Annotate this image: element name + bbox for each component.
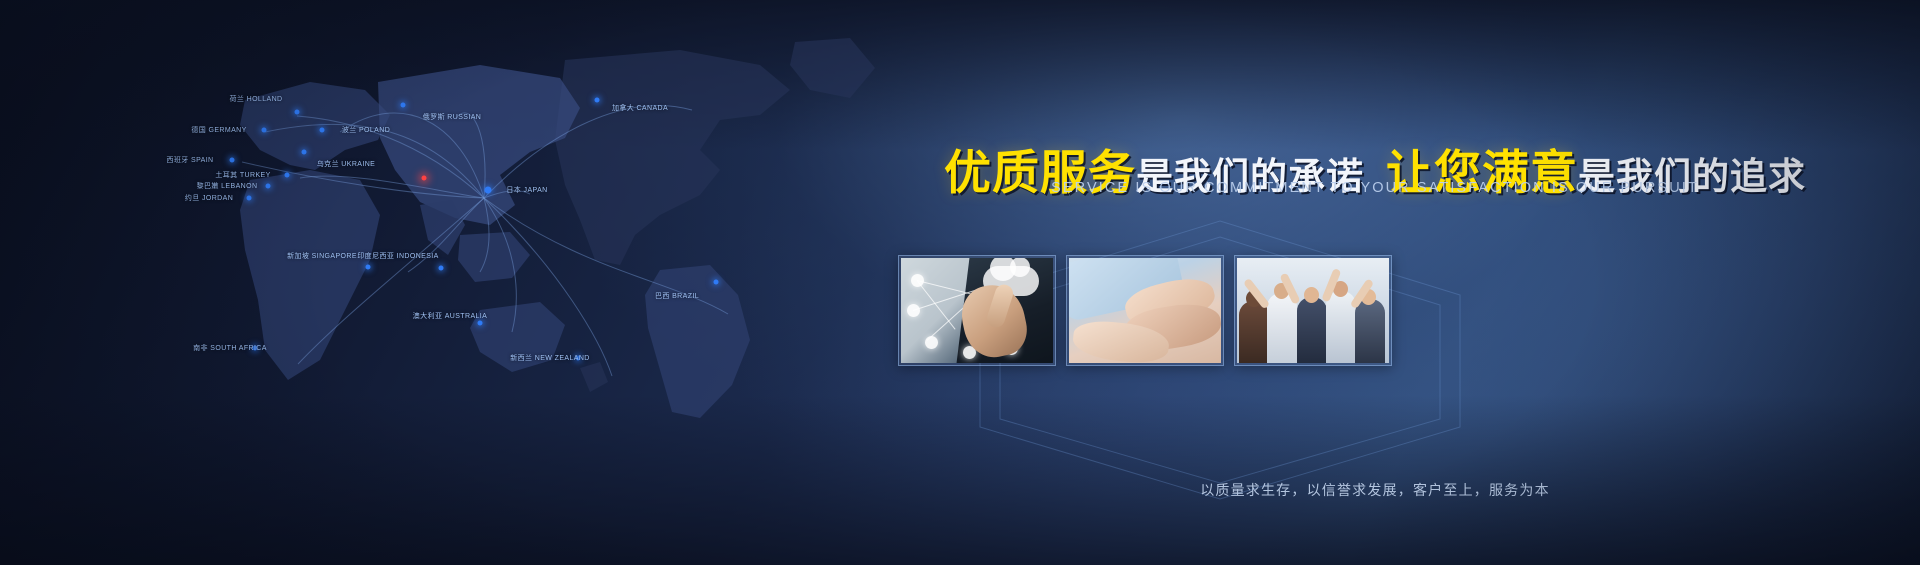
banner-content: 优质服务是我们的承诺让您满意是我们的追求 SERVICE IS OUR COMM… bbox=[830, 0, 1920, 565]
map-label-indonesia: 印度尼西亚 INDONESIA bbox=[357, 251, 438, 261]
map-dot-japan bbox=[485, 187, 492, 194]
photo-1-image bbox=[901, 258, 1053, 363]
photo-1-node bbox=[925, 336, 938, 349]
map-label-canada: 加拿大 CANADA bbox=[612, 103, 668, 113]
map-dot-singapore bbox=[366, 265, 371, 270]
photo-3-person bbox=[1355, 299, 1385, 363]
photo-3-head bbox=[1304, 287, 1319, 303]
photo-3-person bbox=[1239, 301, 1269, 363]
map-dot-canada bbox=[595, 98, 600, 103]
map-dot-china-hub bbox=[422, 176, 427, 181]
photo-3-person bbox=[1297, 297, 1327, 363]
photo-strip bbox=[898, 255, 1392, 366]
map-dot-lebanon bbox=[266, 184, 271, 189]
map-label-new-zealand: 新西兰 NEW ZEALAND bbox=[510, 353, 590, 363]
landmass-southeast-asia bbox=[458, 232, 530, 282]
map-label-russian: 俄罗斯 RUSSIAN bbox=[423, 112, 481, 122]
photo-stacked-hands-teamwork bbox=[1066, 255, 1224, 366]
world-map-svg bbox=[60, 20, 940, 440]
map-label-japan: 日本 JAPAN bbox=[506, 185, 547, 195]
world-map-graphic bbox=[60, 20, 940, 440]
service-promise-banner: 荷兰 HOLLAND 德国 GERMANY 波兰 POLAND 俄罗斯 RUSS… bbox=[0, 0, 1920, 565]
page-subtitle: SERVICE IS OUR COMMITMENT TO YOUR SATISF… bbox=[850, 180, 1900, 196]
map-label-ukraine: 乌克兰 UKRAINE bbox=[317, 159, 375, 169]
map-dot-jordan bbox=[247, 196, 252, 201]
company-tagline: 以质量求生存，以信誉求发展，客户至上，服务为本 bbox=[850, 480, 1900, 500]
map-label-turkey: 土耳其 TURKEY bbox=[215, 170, 270, 180]
map-label-germany: 德国 GERMANY bbox=[191, 125, 246, 135]
map-dot-ukraine bbox=[302, 150, 307, 155]
map-label-australia: 澳大利亚 AUSTRALIA bbox=[413, 311, 487, 321]
map-label-lebanon: 黎巴嫩 LEBANON bbox=[197, 181, 258, 191]
photo-1-node bbox=[911, 274, 924, 287]
photo-team-high-five bbox=[1234, 255, 1392, 366]
map-label-jordan: 约旦 JORDAN bbox=[185, 193, 233, 203]
photo-3-person bbox=[1267, 293, 1297, 363]
map-label-brazil: 巴西 BRAZIL bbox=[655, 291, 699, 301]
map-dot-germany bbox=[262, 128, 267, 133]
photo-2-image bbox=[1069, 258, 1221, 363]
map-dot-brazil bbox=[714, 280, 719, 285]
photo-cloud-network-touch bbox=[898, 255, 1056, 366]
map-dot-indonesia bbox=[439, 266, 444, 271]
landmass-new-zealand bbox=[580, 362, 608, 392]
map-dot-russian bbox=[401, 103, 406, 108]
map-dot-turkey bbox=[285, 173, 290, 178]
landmass-south-america bbox=[645, 265, 750, 418]
photo-3-image bbox=[1237, 258, 1389, 363]
landmass-north-america bbox=[555, 50, 790, 265]
landmass-asia bbox=[378, 65, 580, 225]
map-dot-poland bbox=[320, 128, 325, 133]
map-label-singapore: 新加坡 SINGAPORE bbox=[287, 251, 357, 261]
map-label-south-africa: 南非 SOUTH AFRICA bbox=[193, 343, 267, 353]
map-dot-holland bbox=[295, 110, 300, 115]
photo-1-node bbox=[907, 304, 920, 317]
map-label-poland: 波兰 POLAND bbox=[342, 125, 390, 135]
map-label-spain: 西班牙 SPAIN bbox=[166, 155, 213, 165]
map-dot-australia bbox=[478, 321, 483, 326]
map-dot-spain bbox=[230, 158, 235, 163]
map-label-holland: 荷兰 HOLLAND bbox=[229, 94, 282, 104]
